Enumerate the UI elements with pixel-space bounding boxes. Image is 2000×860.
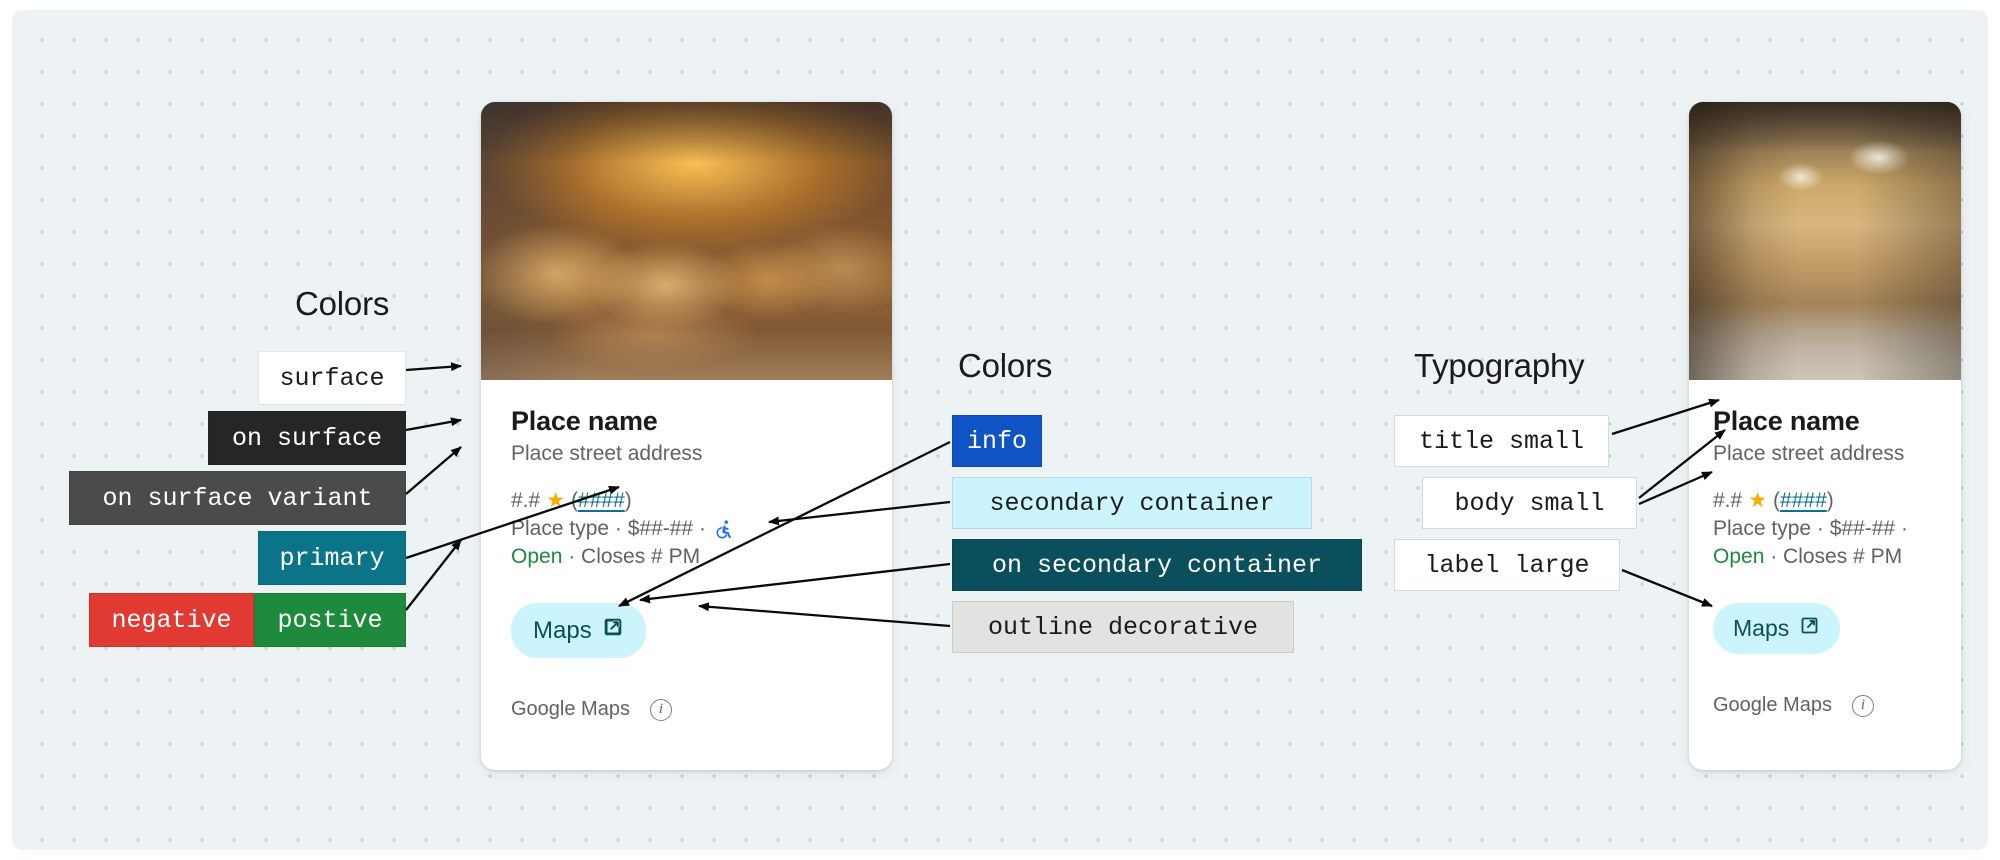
place-photo-bakery	[481, 102, 892, 380]
section-heading-typography: Typography	[1414, 347, 1584, 385]
design-canvas: Colors Colors Typography surface on surf…	[12, 10, 1988, 850]
place-name: Place name	[511, 406, 862, 437]
place-rating-row-right: #.# ★ (####)	[1713, 488, 1937, 513]
typography-token-body-small[interactable]: body small	[1422, 477, 1637, 529]
section-heading-colors-middle: Colors	[958, 347, 1052, 385]
place-address-right: Place street address	[1713, 442, 1937, 466]
place-meta-row-right: Place type · $##-## ·	[1713, 517, 1937, 541]
place-hours-row-right: Open · Closes # PM	[1713, 545, 1937, 569]
color-token-on-surface-variant[interactable]: on surface variant	[69, 471, 406, 525]
color-token-surface[interactable]: surface	[258, 351, 406, 405]
place-rating-row: #.# ★ (####)	[511, 488, 862, 513]
rating-value: #.#	[511, 489, 540, 513]
external-link-icon	[602, 616, 624, 645]
place-hours-row: Open · Closes # PM	[511, 545, 862, 569]
place-card-body-right: Place name Place street address #.# ★ (#…	[1689, 380, 1961, 717]
place-card-left: Place name Place street address #.# ★ (#…	[481, 102, 892, 770]
color-token-secondary-container[interactable]: secondary container	[952, 477, 1312, 529]
color-token-outline-decorative[interactable]: outline decorative	[952, 601, 1294, 653]
paren-close-right: )	[1827, 489, 1834, 513]
status-closing-right: · Closes # PM	[1764, 545, 1902, 568]
paren-open: (	[571, 489, 578, 513]
color-token-on-surface[interactable]: on surface	[208, 411, 406, 465]
place-meta-text-right: Place type · $##-## ·	[1713, 517, 1908, 541]
place-address: Place street address	[511, 442, 862, 466]
color-token-primary[interactable]: primary	[258, 531, 406, 585]
wheelchair-accessible-icon	[715, 519, 735, 540]
typography-token-label-large[interactable]: label large	[1394, 539, 1620, 591]
color-token-info[interactable]: info	[952, 415, 1042, 467]
footer-attribution-right: Google Maps	[1713, 694, 1832, 717]
star-icon: ★	[546, 488, 565, 513]
typography-token-title-small[interactable]: title small	[1394, 415, 1609, 467]
rating-count-link[interactable]: ####	[578, 489, 625, 513]
status-open-right: Open	[1713, 545, 1764, 568]
status-closing: · Closes # PM	[562, 545, 700, 568]
footer-attribution: Google Maps	[511, 698, 630, 721]
status-open: Open	[511, 545, 562, 568]
place-name-right: Place name	[1713, 406, 1937, 437]
card-footer: Google Maps i	[511, 698, 862, 721]
card-footer-right: Google Maps i	[1713, 694, 1937, 717]
color-token-on-secondary-container[interactable]: on secondary container	[952, 539, 1362, 591]
place-photo-cafe	[1689, 102, 1961, 380]
maps-button[interactable]: Maps	[511, 603, 646, 658]
maps-button-label: Maps	[533, 617, 592, 645]
info-icon[interactable]: i	[650, 699, 672, 721]
place-card-right: Place name Place street address #.# ★ (#…	[1689, 102, 1961, 770]
place-card-body: Place name Place street address #.# ★ (#…	[481, 380, 892, 721]
maps-button-right[interactable]: Maps	[1713, 603, 1840, 654]
rating-value-right: #.#	[1713, 489, 1742, 513]
paren-close: )	[625, 489, 632, 513]
color-token-negative[interactable]: negative	[89, 593, 254, 647]
info-icon-right[interactable]: i	[1852, 695, 1874, 717]
external-link-icon-right	[1799, 615, 1820, 642]
paren-open-right: (	[1773, 489, 1780, 513]
rating-count-link-right[interactable]: ####	[1780, 489, 1827, 513]
star-icon-right: ★	[1748, 488, 1767, 513]
place-meta-text: Place type · $##-## ·	[511, 517, 706, 541]
section-heading-colors-left: Colors	[295, 285, 389, 323]
place-meta-row: Place type · $##-## ·	[511, 517, 862, 541]
color-token-positive[interactable]: postive	[254, 593, 406, 647]
maps-button-label-right: Maps	[1733, 615, 1789, 642]
